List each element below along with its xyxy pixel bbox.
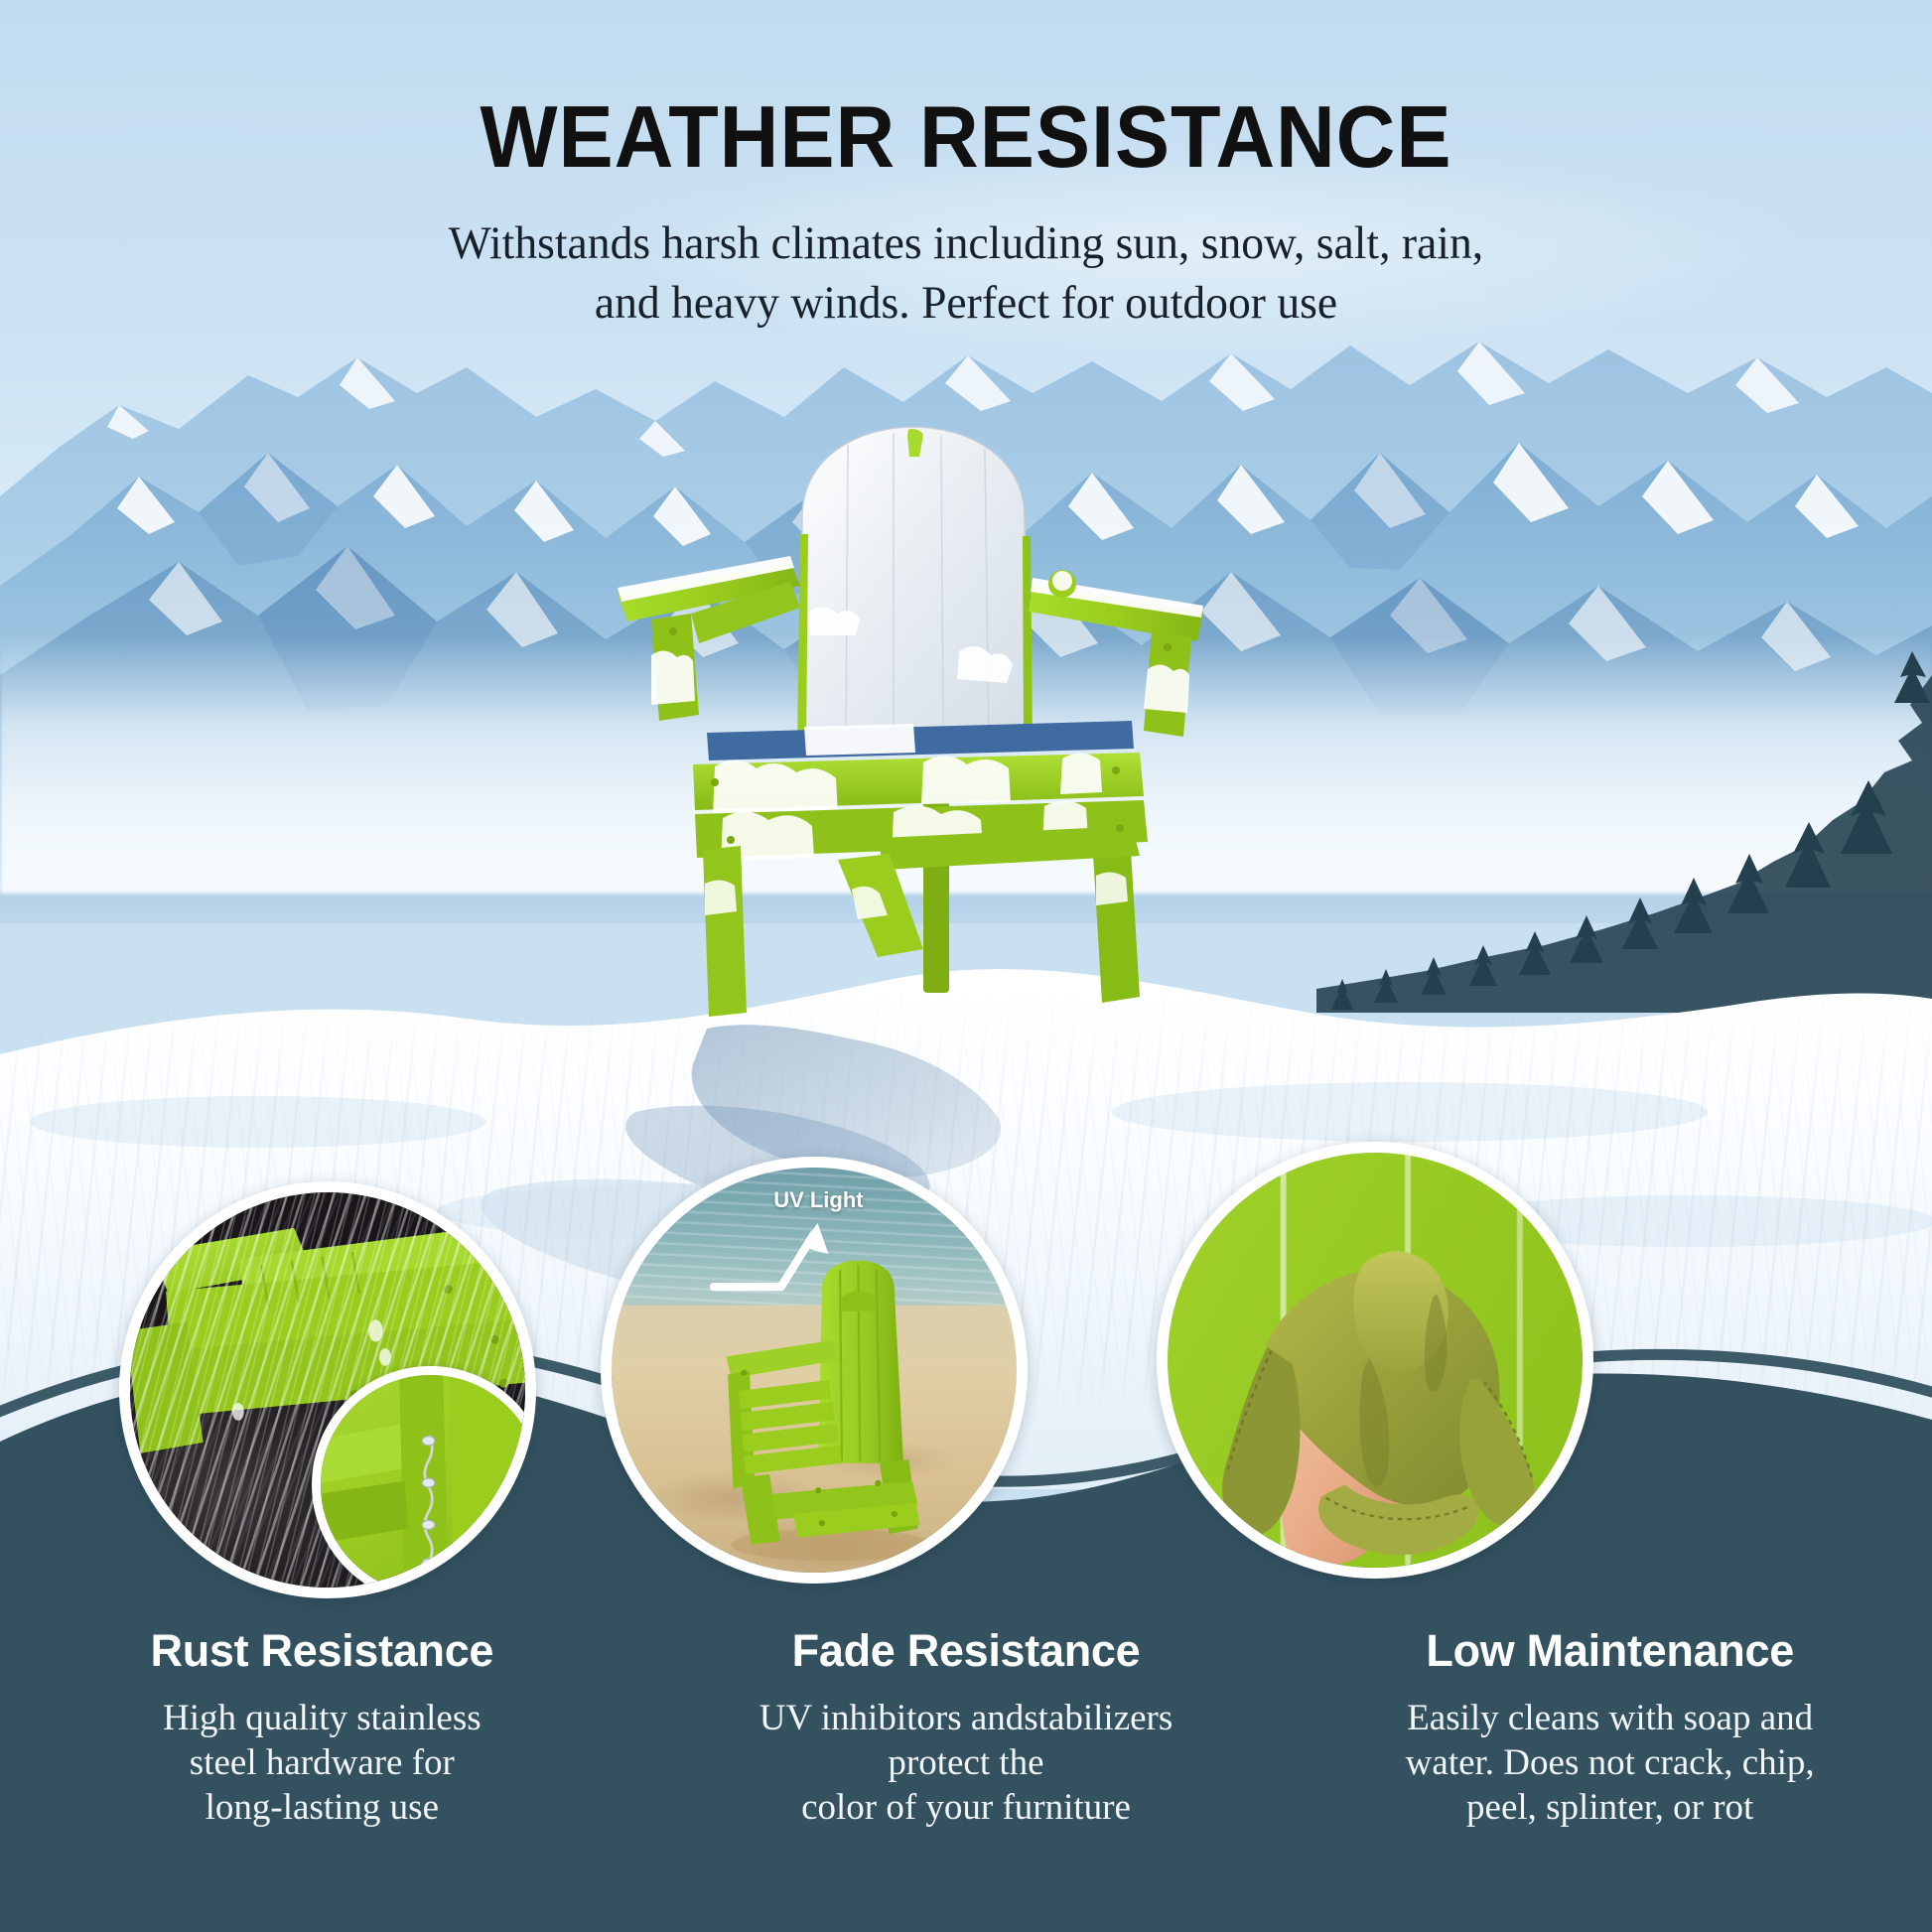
feature-body-line-2: steel hardware for	[24, 1740, 621, 1785]
caption-fade-resistance: Fade Resistance UV inhibitors andstabili…	[644, 1626, 1289, 1932]
feature-body-fade-resistance: UV inhibitors andstabilizers protect the…	[668, 1696, 1265, 1830]
feature-body-low-maintenance: Easily cleans with soap and water. Does …	[1311, 1696, 1908, 1830]
hand-with-cloth-illustration	[1168, 1153, 1583, 1568]
feature-title-low-maintenance: Low Maintenance	[1311, 1626, 1908, 1676]
feature-body-rust-resistance: High quality stainless steel hardware fo…	[24, 1696, 621, 1830]
feature-image-rust-resistance	[119, 1181, 536, 1598]
feature-title-rust-resistance: Rust Resistance	[24, 1626, 621, 1676]
feature-body-line-1: High quality stainless	[24, 1696, 621, 1740]
feature-body-line-2: protect the	[668, 1740, 1265, 1785]
feature-title-fade-resistance: Fade Resistance	[668, 1626, 1265, 1676]
feature-captions: Rust Resistance High quality stainless s…	[0, 1626, 1932, 1932]
feature-body-line-3: peel, splinter, or rot	[1311, 1785, 1908, 1830]
feature-image-fade-resistance: UV Light	[601, 1157, 1028, 1584]
feature-body-line-3: long-lasting use	[24, 1785, 621, 1830]
chair-on-beach-illustration	[676, 1257, 968, 1565]
inset-stainless-hardware-closeup	[312, 1366, 536, 1598]
feature-body-line-3: color of your furniture	[668, 1785, 1265, 1830]
feature-body-line-2: water. Does not crack, chip,	[1311, 1740, 1908, 1785]
feature-image-low-maintenance	[1157, 1142, 1593, 1579]
weather-resistance-infographic: UV Light	[0, 0, 1932, 1932]
uv-light-label: UV Light	[773, 1187, 863, 1213]
caption-rust-resistance: Rust Resistance High quality stainless s…	[0, 1626, 644, 1932]
feature-body-line-1: Easily cleans with soap and	[1311, 1696, 1908, 1740]
feature-body-line-1: UV inhibitors andstabilizers	[668, 1696, 1265, 1740]
caption-low-maintenance: Low Maintenance Easily cleans with soap …	[1288, 1626, 1932, 1932]
